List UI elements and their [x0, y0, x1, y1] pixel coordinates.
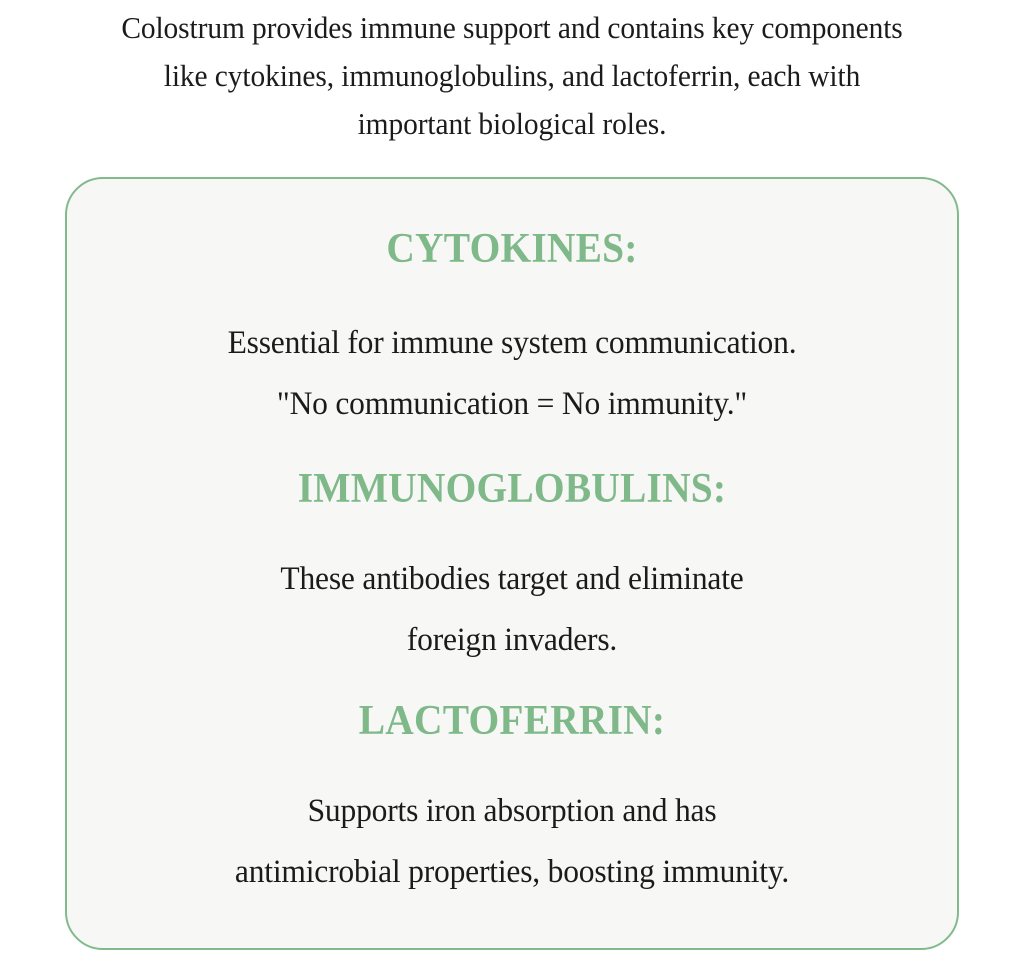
section-cytokines: CYTOKINES: Essential for immune system c… — [93, 223, 931, 435]
spacer-after-immunoglobulins-heading — [93, 515, 931, 549]
body-cytokines-line-1: Essential for immune system communicatio… — [112, 313, 912, 374]
body-lactoferrin-line-1: Supports iron absorption and has — [112, 781, 912, 842]
intro-line-3: important biological roles. — [26, 100, 999, 148]
intro-paragraph: Colostrum provides immune support and co… — [18, 0, 1006, 148]
body-lactoferrin-line-2: antimicrobial properties, boosting immun… — [112, 842, 912, 903]
heading-cytokines: CYTOKINES: — [118, 223, 906, 275]
heading-lactoferrin: LACTOFERRIN: — [118, 695, 906, 747]
body-cytokines: Essential for immune system communicatio… — [112, 313, 912, 435]
body-immunoglobulins: These antibodies target and eliminate fo… — [112, 549, 912, 671]
body-lactoferrin: Supports iron absorption and has antimic… — [112, 781, 912, 903]
body-cytokines-line-2: "No communication = No immunity." — [112, 374, 912, 435]
section-immunoglobulins: IMMUNOGLOBULINS: These antibodies target… — [93, 463, 931, 671]
components-card: CYTOKINES: Essential for immune system c… — [65, 177, 959, 950]
intro-line-1: Colostrum provides immune support and co… — [26, 4, 999, 52]
body-immunoglobulins-line-1: These antibodies target and eliminate — [112, 549, 912, 610]
page-root: Colostrum provides immune support and co… — [0, 0, 1024, 963]
spacer-after-cytokines-body — [93, 435, 931, 463]
spacer-after-cytokines-heading — [93, 275, 931, 313]
body-immunoglobulins-line-2: foreign invaders. — [112, 610, 912, 671]
heading-immunoglobulins: IMMUNOGLOBULINS: — [118, 463, 906, 515]
intro-line-2: like cytokines, immunoglobulins, and lac… — [26, 52, 999, 100]
card-content: CYTOKINES: Essential for immune system c… — [67, 179, 957, 948]
spacer-after-immunoglobulins-body — [93, 671, 931, 695]
spacer-after-lactoferrin-heading — [93, 747, 931, 781]
section-lactoferrin: LACTOFERRIN: Supports iron absorption an… — [93, 695, 931, 903]
